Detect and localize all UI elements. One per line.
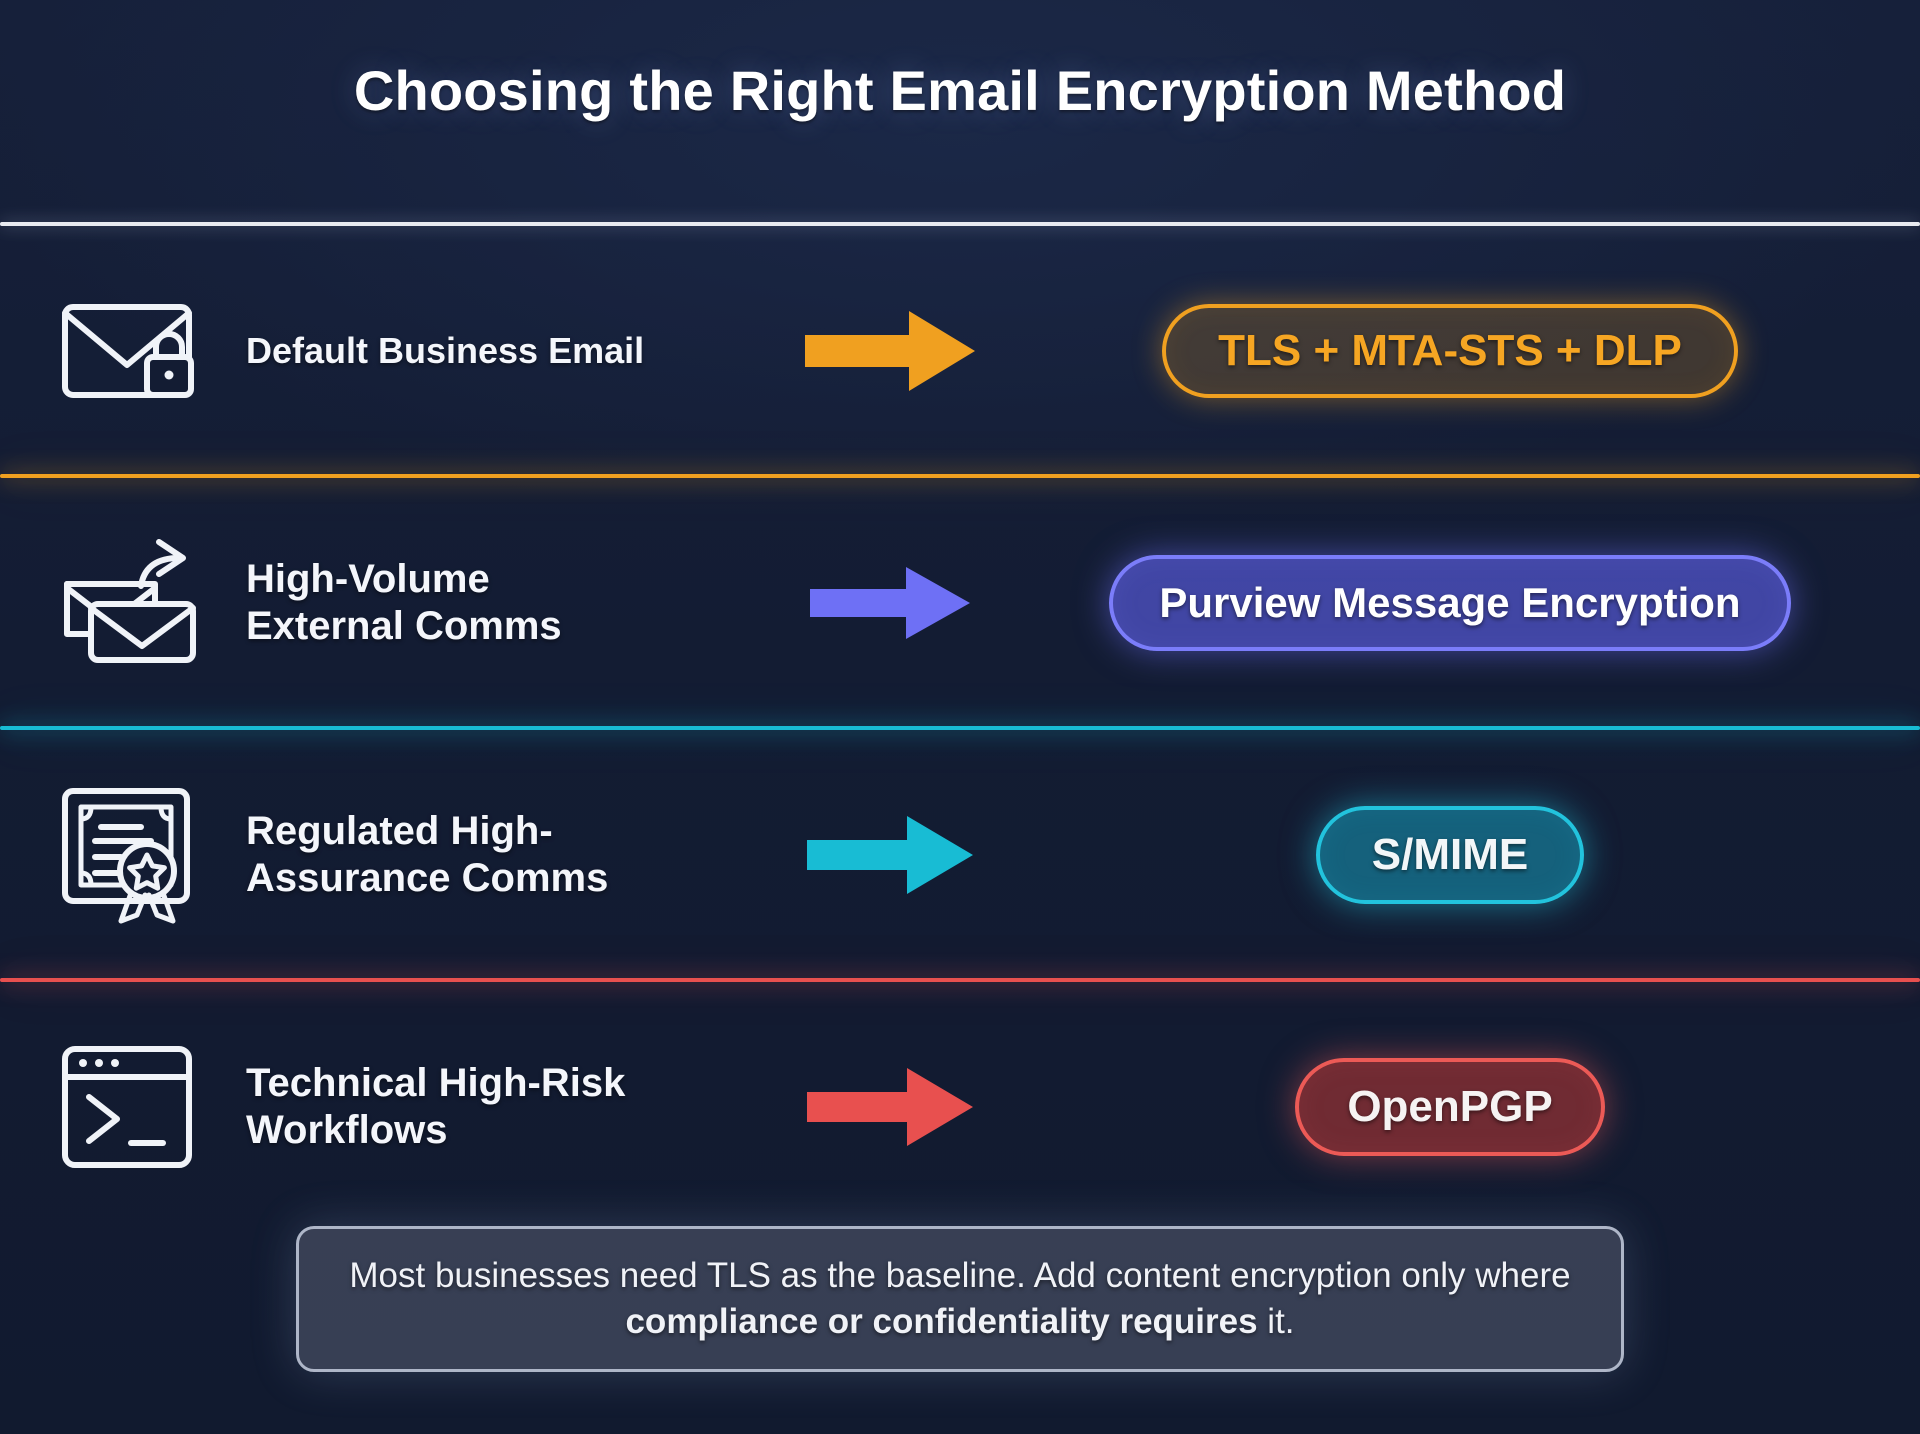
recommendation-container: OpenPGP [1020, 1058, 1920, 1156]
summary-callout: Most businesses need TLS as the baseline… [296, 1226, 1624, 1372]
envelope-forward-icon [0, 538, 240, 668]
recommendation-container: TLS + MTA-STS + DLP [1020, 304, 1920, 398]
scenario-label: Default Business Email [246, 330, 760, 372]
arrow-right-icon [760, 1064, 1020, 1150]
recommendation-badge[interactable]: TLS + MTA-STS + DLP [1162, 304, 1738, 398]
row-regulated-high-assurance-comms: Regulated High- Assurance Comms S/MIME [0, 730, 1920, 980]
arrow-right-icon [760, 563, 1020, 643]
recommendation-container: S/MIME [1020, 806, 1920, 904]
row-high-volume-external-comms: High-Volume External Comms Purview Messa… [0, 478, 1920, 728]
terminal-icon [0, 1043, 240, 1171]
recommendation-badge[interactable]: OpenPGP [1295, 1058, 1604, 1156]
recommendation-badge[interactable]: Purview Message Encryption [1109, 555, 1790, 651]
arrow-right-icon [760, 812, 1020, 898]
recommendation-container: Purview Message Encryption [1020, 555, 1920, 651]
scenario-label-container: Technical High-Risk Workflows [240, 1060, 760, 1154]
certificate-seal-icon [0, 785, 240, 925]
summary-tail: it. [1258, 1302, 1295, 1341]
infographic-canvas: Choosing the Right Email Encryption Meth… [0, 0, 1920, 1434]
scenario-label: Technical High-Risk Workflows [246, 1060, 760, 1154]
summary-text: Most businesses need TLS as the baseline… [339, 1253, 1581, 1345]
page-title: Choosing the Right Email Encryption Meth… [0, 58, 1920, 123]
summary-emphasis: compliance or confidentiality requires [625, 1302, 1257, 1341]
summary-lead: Most businesses need TLS as the baseline… [349, 1256, 1570, 1295]
scenario-label-container: Regulated High- Assurance Comms [240, 808, 760, 902]
row-default-business-email: Default Business Email TLS + MTA-STS + D… [0, 226, 1920, 476]
row-technical-high-risk-workflows: Technical High-Risk Workflows OpenPGP [0, 982, 1920, 1232]
arrow-right-icon [760, 307, 1020, 395]
scenario-label: Regulated High- Assurance Comms [246, 808, 760, 902]
scenario-label-container: Default Business Email [240, 330, 760, 372]
recommendation-badge[interactable]: S/MIME [1316, 806, 1584, 904]
envelope-lock-icon [0, 291, 240, 411]
scenario-label-container: High-Volume External Comms [240, 556, 760, 650]
title-container: Choosing the Right Email Encryption Meth… [0, 58, 1920, 123]
scenario-label: High-Volume External Comms [246, 556, 760, 650]
